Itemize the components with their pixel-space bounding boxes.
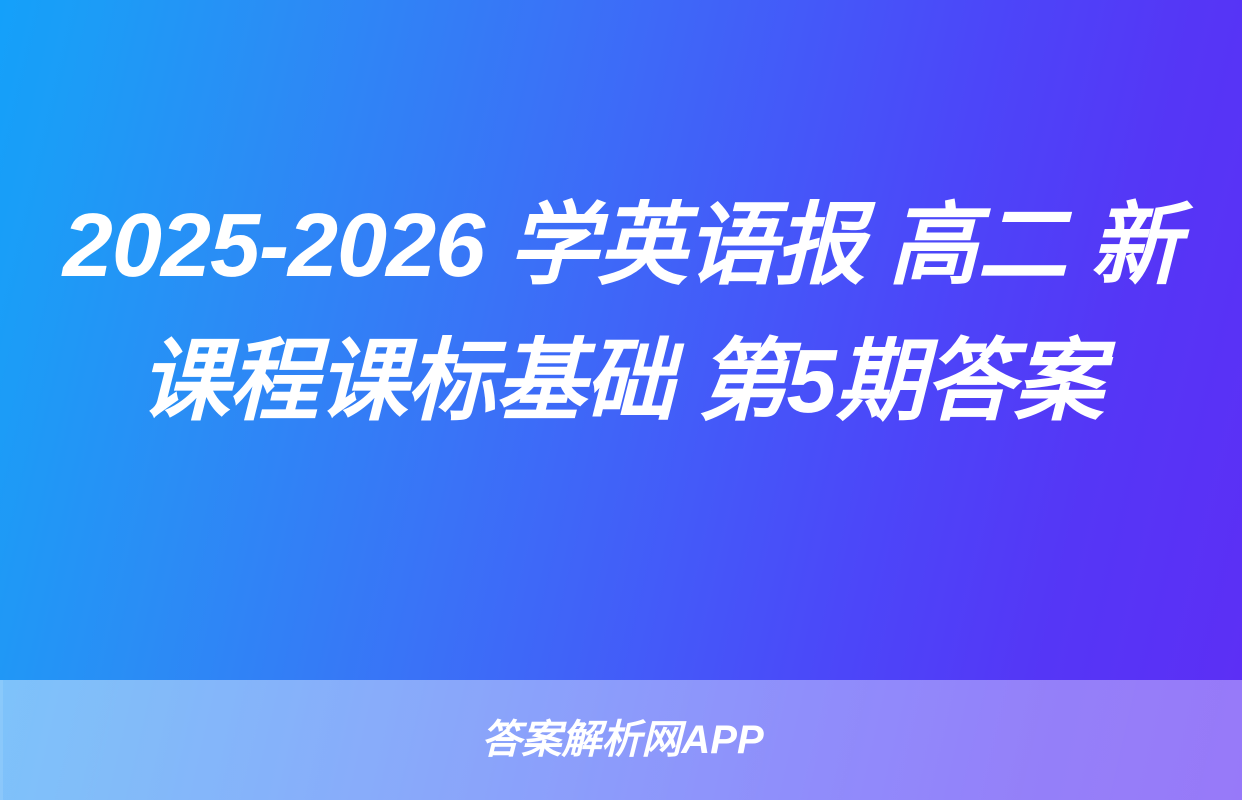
page-title: 2025-2026 学英语报 高二 新课程课标基础 第5期答案 — [0, 178, 1242, 450]
answer-poster: 2025-2026 学英语报 高二 新课程课标基础 第5期答案 答案解析网APP — [0, 0, 1242, 800]
brand-app-label: 答案解析网APP — [481, 720, 763, 760]
brand-footer-band: 答案解析网APP — [0, 680, 1242, 800]
